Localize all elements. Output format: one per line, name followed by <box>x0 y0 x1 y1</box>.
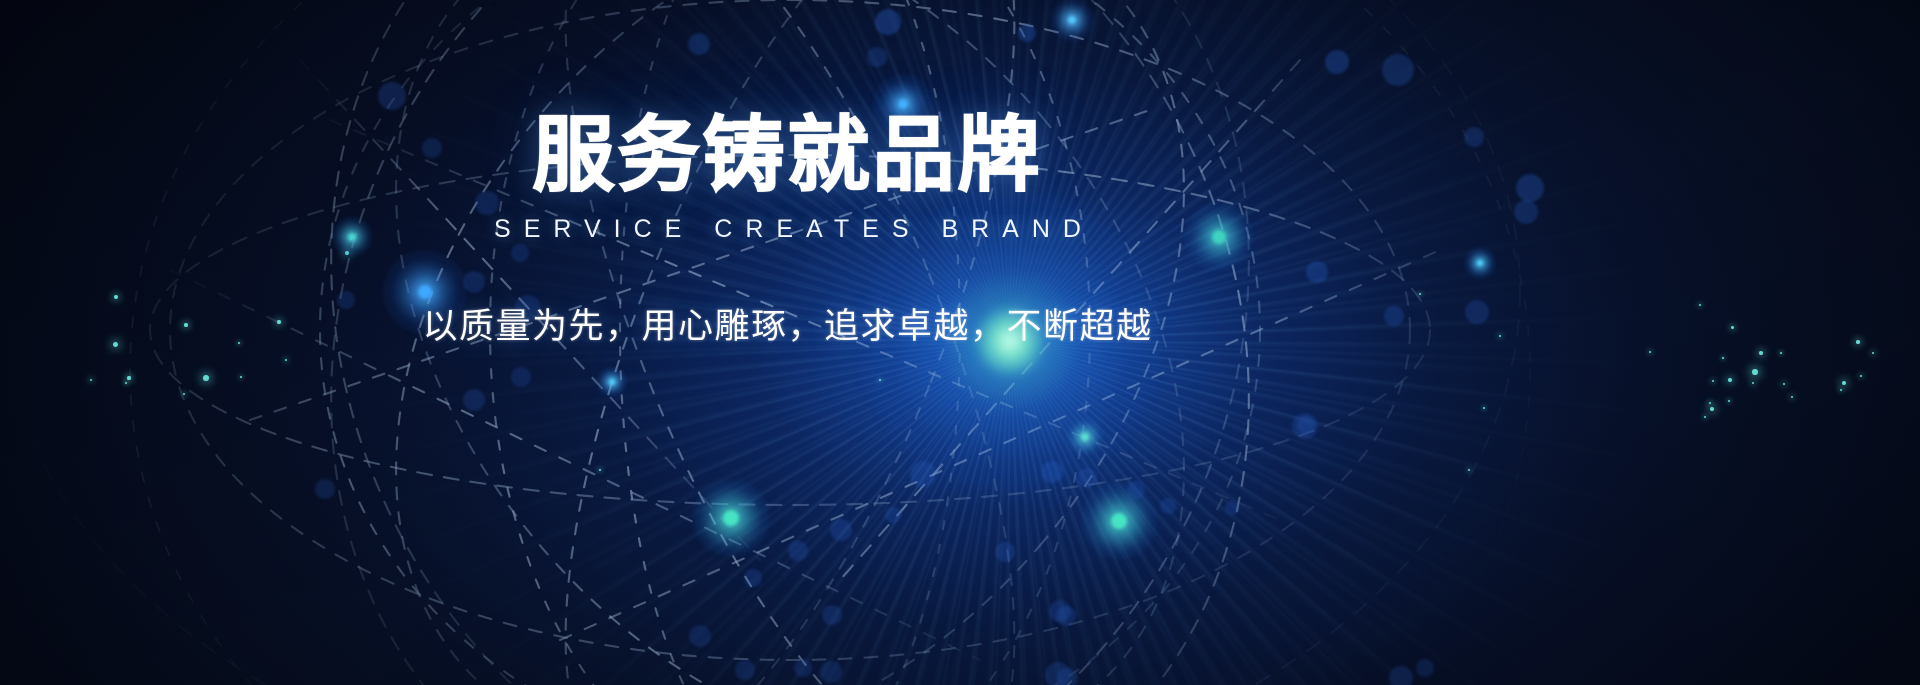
hero-banner: 服务铸就品牌 SERVICE CREATES BRAND 以质量为先，用心雕琢，… <box>0 0 1920 685</box>
banner-main-title: 服务铸就品牌 <box>0 112 1575 201</box>
banner-tagline: 以质量为先，用心雕琢，追求卓越，不断超越 <box>0 298 1575 349</box>
title-block: 服务铸就品牌 SERVICE CREATES BRAND <box>0 112 1575 244</box>
banner-content: 服务铸就品牌 SERVICE CREATES BRAND 以质量为先，用心雕琢，… <box>0 0 1920 685</box>
banner-subtitle-english: SERVICE CREATES BRAND <box>0 215 1575 244</box>
